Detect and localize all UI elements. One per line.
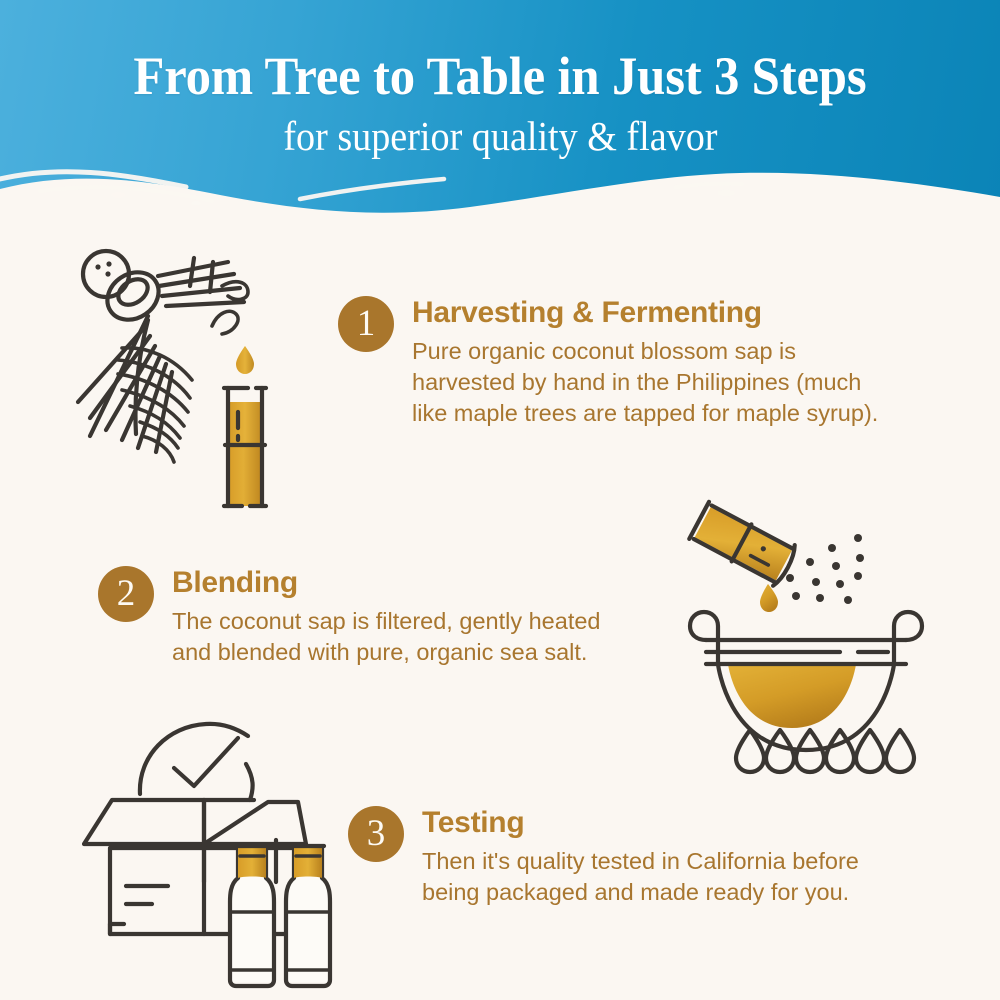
infographic-page: From Tree to Table in Just 3 Steps for s… bbox=[0, 0, 1000, 1000]
bottle-icon bbox=[286, 846, 330, 986]
step-1: 1 Harvesting & Fermenting Pure organic c… bbox=[338, 296, 878, 429]
step-1-body-line: like maple trees are tapped for maple sy… bbox=[412, 398, 878, 429]
step-1-text: Harvesting & Fermenting Pure organic coc… bbox=[394, 296, 878, 429]
step-2-body-line: and blended with pure, organic sea salt. bbox=[172, 637, 601, 668]
step-3-text: Testing Then it's quality tested in Cali… bbox=[404, 806, 859, 908]
sap-drop-icon bbox=[760, 584, 778, 612]
step-3-badge: 3 bbox=[348, 806, 404, 862]
step-1-body-line: Pure organic coconut blossom sap is bbox=[412, 336, 878, 367]
step-1-body: Pure organic coconut blossom sap is harv… bbox=[412, 336, 878, 429]
step-2-body: The coconut sap is filtered, gently heat… bbox=[172, 606, 601, 668]
palm-frond-icon bbox=[78, 258, 248, 462]
cooking-pot-icon bbox=[690, 612, 922, 750]
step-3-body-line: Then it's quality tested in California b… bbox=[422, 846, 859, 877]
step-3-heading: Testing bbox=[422, 806, 859, 840]
illustration-harvesting bbox=[62, 240, 362, 520]
step-1-badge: 1 bbox=[338, 296, 394, 352]
step-2-text: Blending The coconut sap is filtered, ge… bbox=[154, 566, 601, 668]
page-title: From Tree to Table in Just 3 Steps bbox=[133, 46, 866, 106]
illustration-blending bbox=[672, 492, 972, 777]
step-3-body-line: being packaged and made ready for you. bbox=[422, 877, 859, 908]
step-2: 2 Blending The coconut sap is filtered, … bbox=[98, 566, 601, 668]
wave-divider bbox=[0, 149, 1000, 232]
check-circle-icon bbox=[140, 724, 253, 800]
step-3: 3 Testing Then it's quality tested in Ca… bbox=[348, 806, 859, 908]
step-2-badge: 2 bbox=[98, 566, 154, 622]
flames-icon bbox=[736, 730, 914, 772]
header-banner: From Tree to Table in Just 3 Steps for s… bbox=[0, 0, 1000, 232]
step-1-body-line: harvested by hand in the Philippines (mu… bbox=[412, 367, 878, 398]
bottle-icon bbox=[230, 846, 274, 986]
sap-drop-icon bbox=[236, 346, 254, 374]
step-1-heading: Harvesting & Fermenting bbox=[412, 296, 878, 330]
bamboo-cup-icon bbox=[224, 388, 266, 506]
bamboo-tube-pouring-icon bbox=[688, 500, 798, 588]
sea-salt-grains-icon bbox=[786, 534, 864, 604]
step-2-heading: Blending bbox=[172, 566, 601, 600]
step-2-body-line: The coconut sap is filtered, gently heat… bbox=[172, 606, 601, 637]
step-3-body: Then it's quality tested in California b… bbox=[422, 846, 859, 908]
illustration-testing bbox=[82, 712, 387, 992]
